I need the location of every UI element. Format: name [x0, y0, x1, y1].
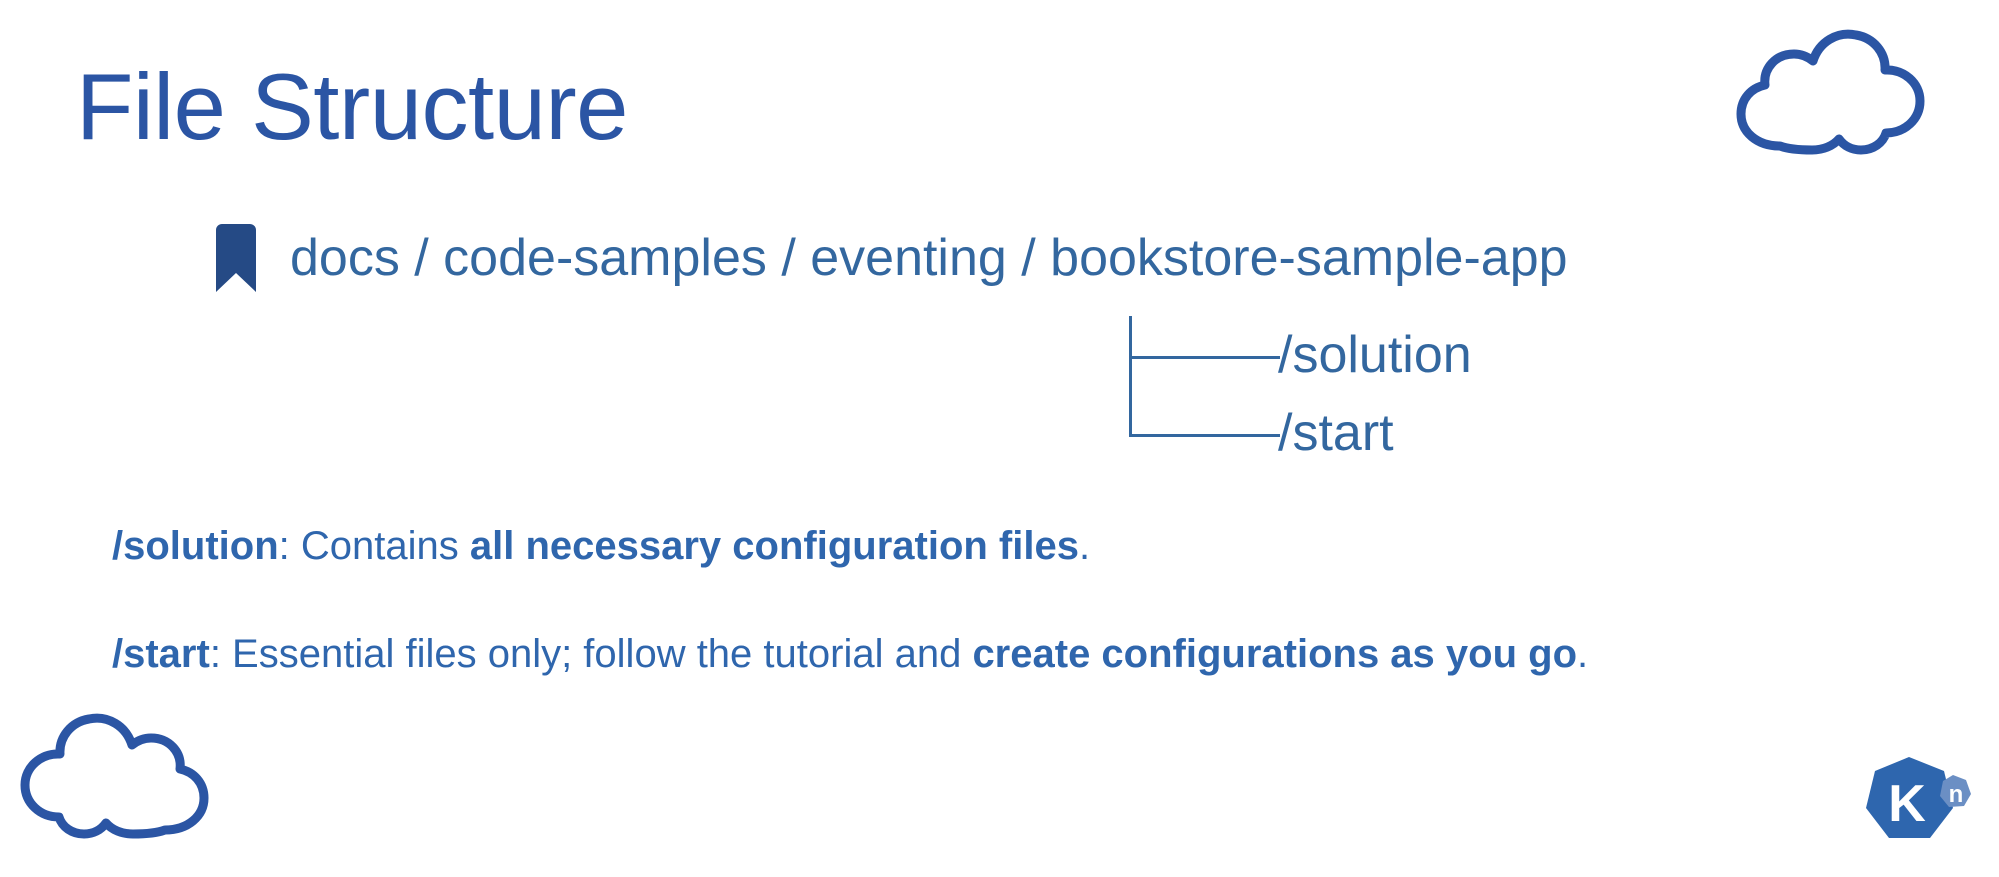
paragraph-lead: /solution: [112, 524, 279, 568]
paragraph-solution: /solution: Contains all necessary config…: [112, 522, 1912, 570]
logo-badge-letter: n: [1949, 781, 1964, 808]
path-text: docs / code-samples / eventing / booksto…: [290, 232, 1568, 284]
path-breadcrumb: docs / code-samples / eventing / booksto…: [212, 224, 1568, 292]
tree-branch-ell-icon: [1128, 394, 1280, 472]
page-title: File Structure: [76, 58, 628, 157]
paragraph-middle: : Essential files only; follow the tutor…: [210, 632, 973, 676]
cloud-icon: [1723, 28, 1933, 156]
bookmark-icon: [212, 224, 260, 292]
slide-canvas: File Structure docs / code-samples / eve…: [0, 0, 1999, 877]
paragraph-lead: /start: [112, 632, 210, 676]
knative-logo: K n: [1861, 749, 1979, 859]
paragraph-emphasis: all necessary configuration files: [470, 524, 1079, 568]
paragraph-tail: .: [1577, 632, 1588, 676]
paragraph-tail: .: [1079, 524, 1090, 568]
paragraph-middle: : Contains: [279, 524, 470, 568]
tree-branch-tee-icon: [1128, 316, 1280, 394]
paragraph-start: /start: Essential files only; follow the…: [112, 630, 1912, 678]
paragraph-emphasis: create configurations as you go: [972, 632, 1577, 676]
tree-item-label: /solution: [1278, 329, 1472, 381]
file-tree: /solution /start: [1128, 316, 1472, 472]
logo-mark-letter: K: [1888, 775, 1926, 833]
tree-row: /solution: [1128, 316, 1472, 394]
cloud-icon: [12, 712, 222, 840]
tree-item-label: /start: [1278, 407, 1394, 459]
body-text-block: /solution: Contains all necessary config…: [112, 522, 1912, 678]
tree-row: /start: [1128, 394, 1472, 472]
